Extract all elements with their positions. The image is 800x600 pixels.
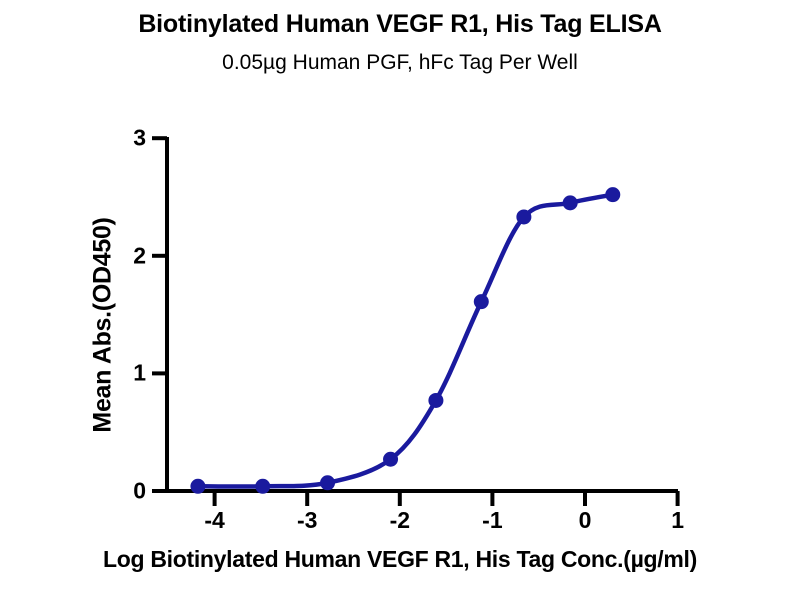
x-tick-label: -4 — [204, 507, 224, 534]
x-axis-label: Log Biotinylated Human VEGF R1, His Tag … — [0, 546, 800, 573]
x-tick-label: 1 — [671, 507, 684, 534]
x-tick-label: -2 — [390, 507, 410, 534]
sigmoid-fit-line — [198, 195, 613, 487]
fit-curve — [198, 195, 613, 487]
data-point — [190, 479, 205, 494]
y-tick-label: 3 — [110, 125, 146, 152]
x-axis-ticks — [215, 491, 678, 506]
y-tick-label: 2 — [110, 242, 146, 269]
axes — [152, 137, 678, 506]
x-tick-label: 0 — [579, 507, 592, 534]
y-axis-ticks — [152, 138, 167, 491]
x-tick-label: -1 — [482, 507, 502, 534]
data-point — [605, 187, 620, 202]
data-point — [516, 209, 531, 224]
data-point — [320, 475, 335, 490]
data-point — [428, 393, 443, 408]
x-tick-label: -3 — [297, 507, 317, 534]
data-point — [255, 479, 270, 494]
data-point — [563, 195, 578, 210]
data-point — [383, 452, 398, 467]
y-tick-label: 1 — [110, 360, 146, 387]
elisa-chart: Biotinylated Human VEGF R1, His Tag ELIS… — [0, 0, 800, 600]
data-point — [474, 294, 489, 309]
y-tick-label: 0 — [110, 478, 146, 505]
